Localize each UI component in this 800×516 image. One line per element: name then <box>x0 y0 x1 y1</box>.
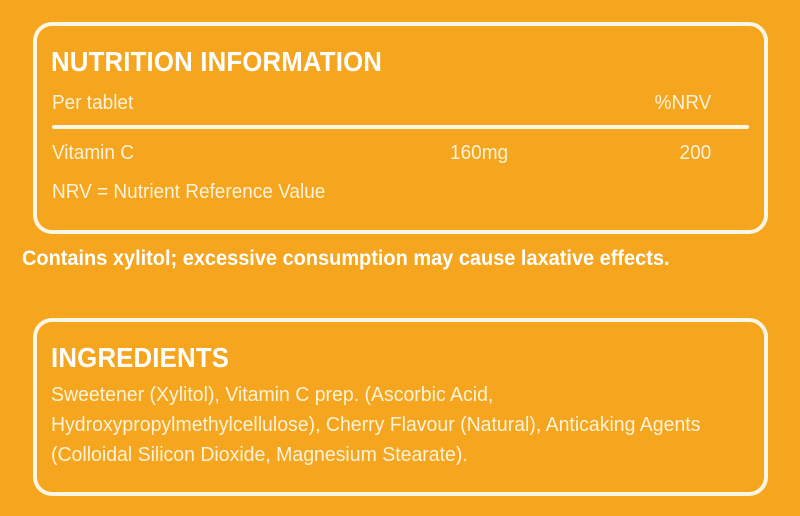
nutrition-label: NUTRITION INFORMATION Per tablet %NRV Vi… <box>0 0 800 516</box>
nutrition-panel-inner: NUTRITION INFORMATION Per tablet %NRV Vi… <box>37 26 764 230</box>
ingredients-line: Hydroxypropylmethylcellulose), Cherry Fl… <box>51 410 719 440</box>
ingredients-heading: INGREDIENTS <box>51 344 229 372</box>
nutrition-table-divider <box>52 125 749 129</box>
nutrition-table: Per tablet %NRV <box>51 88 750 122</box>
xylitol-warning-text: Contains xylitol; excessive consumption … <box>22 247 670 270</box>
table-row: Vitamin C 160mg 200 <box>51 138 715 172</box>
nrv-column-header: %NRV <box>655 92 712 115</box>
serving-basis-label: Per tablet <box>52 92 133 115</box>
ingredients-list: Sweetener (Xylitol), Vitamin C prep. (As… <box>51 380 719 470</box>
nutrition-information-panel: NUTRITION INFORMATION Per tablet %NRV Vi… <box>33 22 768 234</box>
nutrient-amount: 160mg <box>450 142 508 165</box>
nutrition-information-heading: NUTRITION INFORMATION <box>51 48 382 76</box>
nutrient-nrv-value: 200 <box>680 142 712 165</box>
nrv-footnote: NRV = Nutrient Reference Value <box>52 181 325 204</box>
nutrition-table-header-row: Per tablet %NRV <box>51 88 715 122</box>
ingredients-panel-inner: INGREDIENTS Sweetener (Xylitol), Vitamin… <box>37 322 764 492</box>
nutrient-name: Vitamin C <box>52 142 134 165</box>
ingredients-line: Sweetener (Xylitol), Vitamin C prep. (As… <box>51 380 719 410</box>
ingredients-line: (Colloidal Silicon Dioxide, Magnesium St… <box>51 440 719 470</box>
ingredients-panel: INGREDIENTS Sweetener (Xylitol), Vitamin… <box>33 318 768 496</box>
